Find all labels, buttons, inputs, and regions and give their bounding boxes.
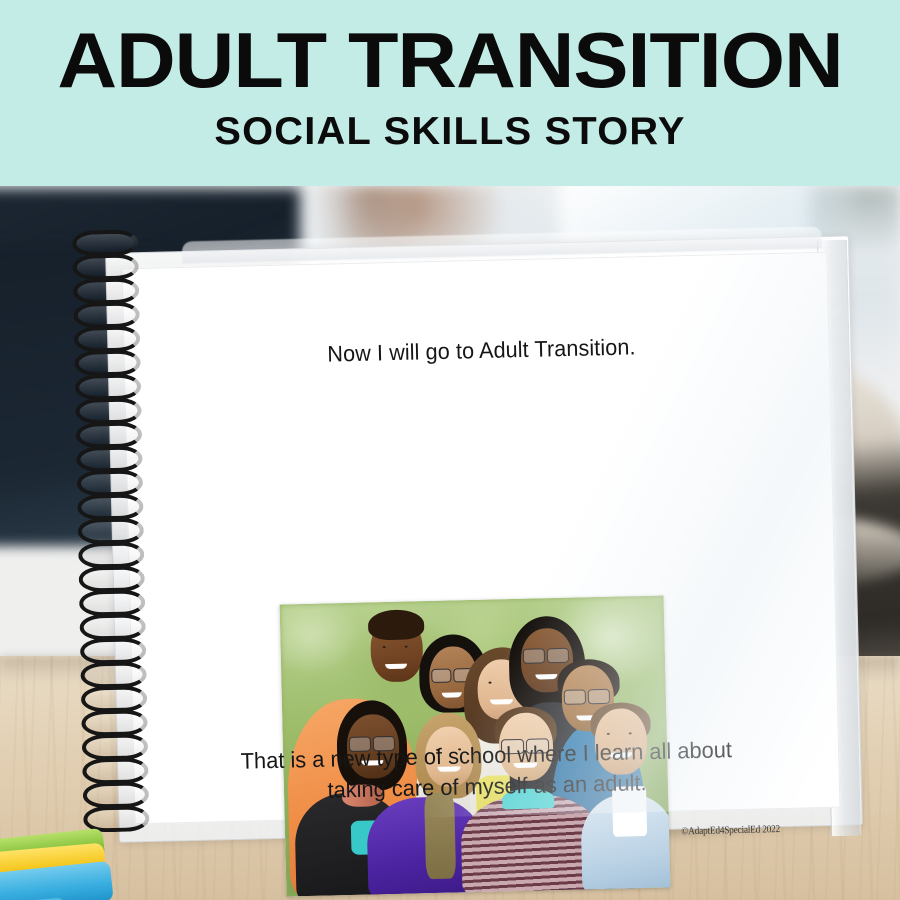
copyright-text: ©AdaptEd4SpecialEd 2022	[681, 824, 780, 837]
spiral-bound-book: Now I will go to Adult Transition.	[72, 222, 862, 862]
product-photo-scene: Now I will go to Adult Transition.	[0, 186, 900, 900]
page-title: ADULT TRANSITION	[0, 20, 900, 100]
spiral-binding-icon	[66, 229, 156, 850]
page-subtitle: SOCIAL SKILLS STORY	[0, 110, 900, 154]
copyright-wrap: ©AdaptEd4SpecialEd 2022	[121, 252, 841, 852]
product-listing-image: ADULT TRANSITION SOCIAL SKILLS STORY Now…	[0, 0, 900, 900]
header-band: ADULT TRANSITION SOCIAL SKILLS STORY	[0, 0, 900, 187]
